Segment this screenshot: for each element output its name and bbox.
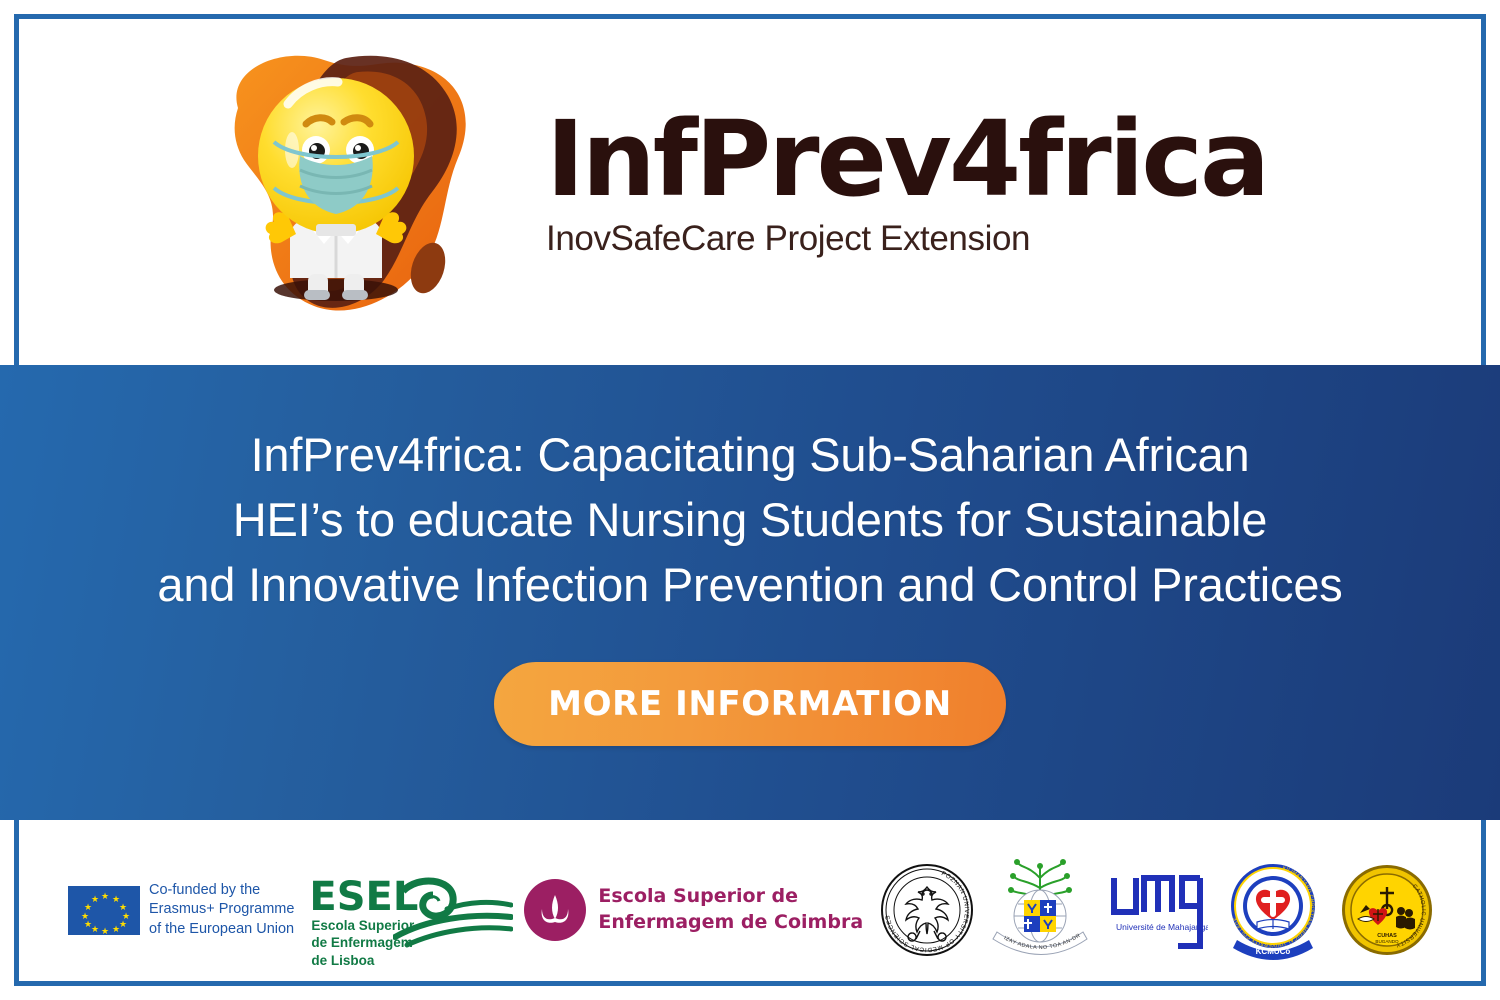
esel-line-1: Escola Superior — [311, 917, 414, 934]
partner-logo-footer: ★ ★ ★ ★ ★ ★ ★ ★ ★ ★ ★ ★ Co-funded by the… — [0, 820, 1500, 1000]
banner-header: InfPrev4frica InovSafeCare Project Exten… — [0, 0, 1500, 365]
esenfc-line-1: Escola Superior de — [598, 884, 863, 910]
brand-text-block: InfPrev4frica InovSafeCare Project Exten… — [546, 106, 1267, 258]
cuhas-location: BUGANDO — [1375, 939, 1399, 944]
hero-band: InfPrev4frica: Capacitating Sub-Saharian… — [0, 365, 1500, 820]
erasmus-caption: Co-funded by the Erasmus+ Programme of t… — [149, 881, 294, 939]
partner-logo-esenfc: Escola Superior de Enfermagem de Coimbra — [524, 879, 863, 941]
partner-logo-umg: Université de Mahajanga — [1104, 860, 1208, 960]
erasmus-line-3: of the European Union — [149, 920, 294, 939]
partner-logo-erasmus-plus: ★ ★ ★ ★ ★ ★ ★ ★ ★ ★ ★ ★ Co-funded by the… — [68, 881, 294, 939]
poznan-seal-icon: POZNAN UNIVERSITY OF MEDICAL SCIENCES PO… — [878, 861, 976, 959]
esel-line-3: de Lisboa — [311, 952, 414, 969]
brand-lockup: InfPrev4frica InovSafeCare Project Exten… — [196, 38, 1267, 328]
cuhas-seal-icon: CATHOLIC UNIVERSITY OF HEALTH & ALLIED S… — [1338, 861, 1436, 959]
esenfc-line-2: Enfermagem de Coimbra — [598, 910, 863, 936]
kcmuco-abbreviation: KCMUCo — [1256, 947, 1291, 956]
partner-logo-row: ★ ★ ★ ★ ★ ★ ★ ★ ★ ★ ★ ★ Co-funded by the… — [30, 850, 1470, 970]
umg-subtitle: Université de Mahajanga — [1116, 922, 1208, 932]
kcmuco-seal-icon: KILIMANJARO CHRISTIAN MEDICAL UNIVERSITY… — [1223, 858, 1323, 962]
headline-line-1: InfPrev4frica: Capacitating Sub-Saharian… — [157, 423, 1342, 488]
cta-container: MORE INFORMATION — [494, 662, 1006, 746]
headline-line-3: and Innovative Infection Prevention and … — [157, 553, 1342, 618]
wordmark: InfPrev4frica — [546, 106, 1267, 212]
page-title: InfPrev4frica: Capacitating Sub-Saharian… — [97, 423, 1402, 618]
masked-lightbulb-mascot-icon — [196, 38, 496, 328]
partner-logo-poznan: POZNAN UNIVERSITY OF MEDICAL SCIENCES PO… — [878, 861, 976, 959]
more-information-button[interactable]: MORE INFORMATION — [494, 662, 1006, 746]
esel-caption: Escola Superior de Enfermagem de Lisboa — [311, 917, 414, 969]
eu-flag-icon: ★ ★ ★ ★ ★ ★ ★ ★ ★ ★ ★ ★ — [68, 886, 140, 935]
erasmus-line-2: Erasmus+ Programme — [149, 900, 294, 919]
esenfc-caption: Escola Superior de Enfermagem de Coimbra — [598, 884, 863, 935]
partner-logo-cuhas-bugando: CATHOLIC UNIVERSITY OF HEALTH & ALLIED S… — [1338, 861, 1436, 959]
esel-line-2: de Enfermagem — [311, 934, 414, 951]
partner-logo-esel: ESEL Escola Superior de Enfermagem de Li… — [309, 871, 509, 949]
partner-logo-mahajanga-crest: IZAY ADALA NO TOA AN-DRANO — [991, 858, 1089, 962]
promo-banner: InfPrev4frica InovSafeCare Project Exten… — [0, 0, 1500, 1000]
headline-line-2: HEI’s to educate Nursing Students for Su… — [157, 488, 1342, 553]
partner-logo-kcmuco: KILIMANJARO CHRISTIAN MEDICAL UNIVERSITY… — [1223, 858, 1323, 962]
mahajanga-crest-icon: IZAY ADALA NO TOA AN-DRANO — [991, 858, 1089, 962]
tagline: InovSafeCare Project Extension — [546, 219, 1030, 259]
esenfc-flame-icon — [524, 879, 586, 941]
umg-wordmark-icon: Université de Mahajanga — [1104, 860, 1208, 960]
erasmus-line-1: Co-funded by the — [149, 881, 294, 900]
